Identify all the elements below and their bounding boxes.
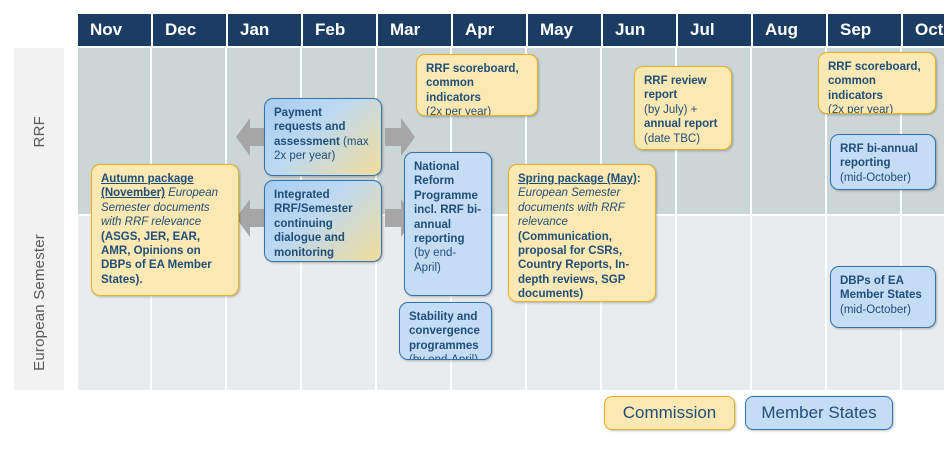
legend-member-states-label: Member States [761, 403, 876, 423]
month-header-row: Nov Dec Jan Feb Mar Apr May Jun Jul Aug … [78, 14, 944, 46]
month-cell-nov: Nov [78, 14, 151, 46]
legend-commission: Commission [604, 396, 735, 430]
month-cell-jul: Jul [678, 14, 751, 46]
node-dbps-ea-member-states[interactable]: DBPs of EA Member States (mid-October) [830, 266, 936, 328]
month-cell-aug: Aug [753, 14, 826, 46]
node-payment-requests[interactable]: Payment requests and assessment (max 2x … [264, 98, 382, 176]
node-rrf-bi-annual-reporting[interactable]: RRF bi-annual reporting (mid-October) [830, 134, 936, 190]
node-rrf-scoreboard-april-detail: (2x per year) [426, 105, 529, 116]
month-cell-sep: Sep [828, 14, 901, 46]
node-rrf-scoreboard-april[interactable]: RRF scoreboard, common indicators (2x pe… [416, 54, 538, 116]
node-national-reform-programme-title: National Reform Programme incl. RRF bi-a… [414, 160, 483, 246]
month-cell-mar: Mar [378, 14, 451, 46]
node-national-reform-programme-detail: (by end-April) [414, 246, 483, 275]
month-cell-apr: Apr [453, 14, 526, 46]
node-spring-package-title: Spring package (May) [518, 173, 637, 185]
month-cell-jan: Jan [228, 14, 301, 46]
node-dbps-ea-member-states-title: DBPs of EA Member States [840, 274, 927, 303]
node-rrf-review-report-title-3: annual report [644, 117, 723, 131]
month-cell-feb: Feb [303, 14, 376, 46]
arrow-left-payment [236, 114, 266, 160]
node-rrf-review-report-detail-2: (date TBC) [644, 132, 723, 146]
node-rrf-review-report-title-2: report [644, 88, 723, 102]
month-cell-dec: Dec [153, 14, 226, 46]
node-rrf-review-report-title-1: RRF review [644, 74, 723, 88]
node-integrated-dialogue-title: Integrated RRF/Semester continuing dialo… [274, 188, 373, 260]
node-rrf-scoreboard-september-detail: (2x per year) [828, 103, 927, 114]
node-autumn-package-detail: (ASGS, JER, EAR, AMR, Opinions on DBPs o… [101, 231, 212, 286]
node-stability-convergence-programmes-detail: (by end-April) [409, 353, 483, 360]
node-payment-requests-title: Payment requests and assessment [274, 107, 346, 148]
node-stability-convergence-programmes[interactable]: Stability and convergence programmes (by… [399, 302, 492, 360]
node-integrated-dialogue[interactable]: Integrated RRF/Semester continuing dialo… [264, 180, 382, 262]
node-rrf-review-report-detail-1: (by July) + [644, 103, 723, 117]
arrow-left-integrated [236, 195, 266, 241]
node-spring-package-detail: (Communication, proposal for CSRs, Count… [518, 231, 629, 301]
timeline-diagram: RRF European Semester Nov Dec Jan Feb Ma… [0, 0, 947, 458]
node-spring-package-colon: : [637, 173, 641, 185]
month-cell-jun: Jun [603, 14, 676, 46]
node-spring-package-italic: European Semester documents with RRF rel… [518, 187, 625, 228]
grid-line [750, 48, 752, 390]
node-rrf-scoreboard-september-title: RRF scoreboard, common indicators [828, 60, 927, 103]
month-cell-may: May [528, 14, 601, 46]
node-rrf-scoreboard-september[interactable]: RRF scoreboard, common indicators (2x pe… [818, 52, 936, 114]
node-rrf-scoreboard-april-title: RRF scoreboard, common indicators [426, 62, 529, 105]
node-stability-convergence-programmes-title: Stability and convergence programmes [409, 310, 483, 353]
node-rrf-bi-annual-reporting-detail: (mid-October) [840, 171, 927, 185]
row-label-european-semester-text: European Semester [31, 234, 48, 371]
row-label-rrf: RRF [14, 48, 64, 215]
row-label-rrf-text: RRF [31, 116, 48, 147]
node-rrf-bi-annual-reporting-title: RRF bi-annual reporting [840, 142, 927, 171]
month-cell-oct: Oct [903, 14, 944, 46]
row-label-european-semester: European Semester [14, 215, 64, 390]
node-rrf-review-report[interactable]: RRF review report (by July) + annual rep… [634, 66, 732, 150]
legend-member-states: Member States [745, 396, 893, 430]
legend-commission-label: Commission [623, 403, 717, 423]
node-national-reform-programme[interactable]: National Reform Programme incl. RRF bi-a… [404, 152, 492, 296]
node-autumn-package[interactable]: Autumn package (November) European Semes… [91, 164, 239, 296]
node-spring-package[interactable]: Spring package (May): European Semester … [508, 164, 656, 302]
node-dbps-ea-member-states-detail: (mid-October) [840, 303, 927, 317]
